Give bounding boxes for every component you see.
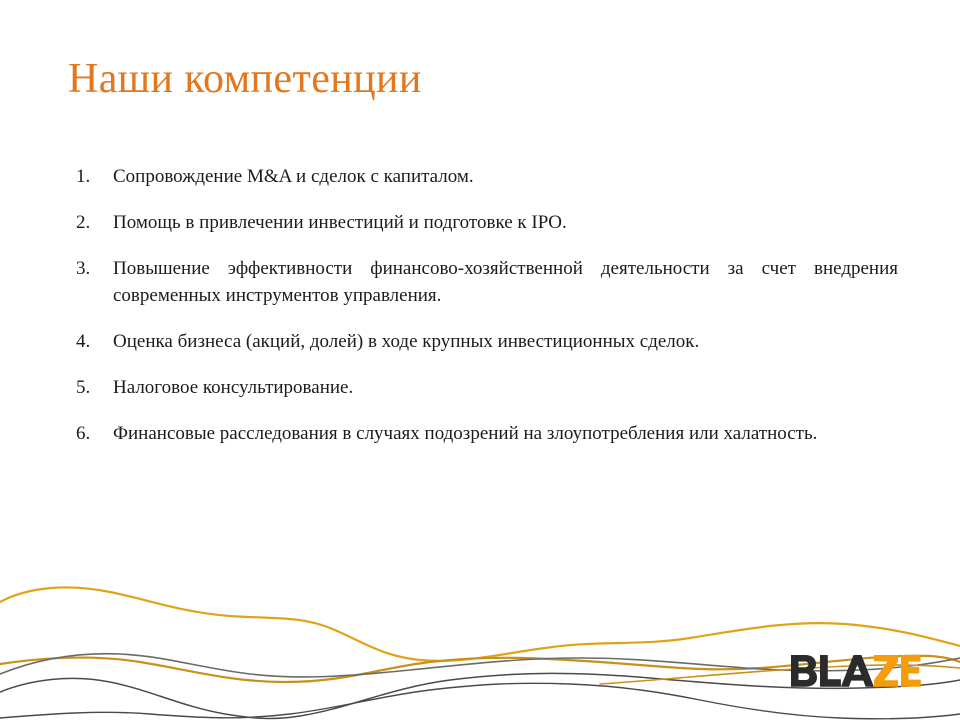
list-item-text: Финансовые расследования в случаях подоз…: [113, 420, 898, 447]
list-item-text: Налоговое консультирование.: [113, 374, 898, 401]
logo-letter-z-accent: [874, 655, 898, 687]
wave-line-orange-top: [0, 587, 960, 660]
list-item-number: 1.: [76, 163, 113, 190]
list-item-text: Помощь в привлечении инвестиций и подгот…: [113, 209, 898, 236]
list-item: 5. Налоговое консультирование.: [76, 374, 898, 401]
competency-list: 1. Сопровождение M&A и сделок с капитало…: [76, 163, 898, 466]
list-item-number: 4.: [76, 328, 113, 355]
list-item-number: 3.: [76, 255, 113, 282]
slide-canvas: Наши компетенции 1. Сопровождение M&A и …: [0, 0, 960, 720]
blaze-logo: [789, 651, 921, 691]
list-item-text: Сопровождение M&A и сделок с капиталом.: [113, 163, 898, 190]
page-title: Наши компетенции: [68, 54, 422, 104]
logo-letter-z: [874, 655, 898, 687]
logo-letter-e: [901, 655, 921, 687]
list-item: 3. Повышение эффективности финансово-хоз…: [76, 255, 898, 309]
list-item-number: 2.: [76, 209, 113, 236]
logo-letter-b: [791, 655, 817, 687]
list-item-text: Оценка бизнеса (акций, долей) в ходе кру…: [113, 328, 898, 355]
logo-letter-a: [841, 655, 874, 687]
wave-decoration: [0, 580, 960, 720]
list-item-number: 6.: [76, 420, 113, 447]
list-item: 1. Сопровождение M&A и сделок с капитало…: [76, 163, 898, 190]
list-item: 6. Финансовые расследования в случаях по…: [76, 420, 898, 447]
list-item: 4. Оценка бизнеса (акций, долей) в ходе …: [76, 328, 898, 355]
list-item: 2. Помощь в привлечении инвестиций и под…: [76, 209, 898, 236]
list-item-text: Повышение эффективности финансово-хозяйс…: [113, 255, 898, 309]
list-item-number: 5.: [76, 374, 113, 401]
logo-letter-l: [820, 655, 841, 687]
